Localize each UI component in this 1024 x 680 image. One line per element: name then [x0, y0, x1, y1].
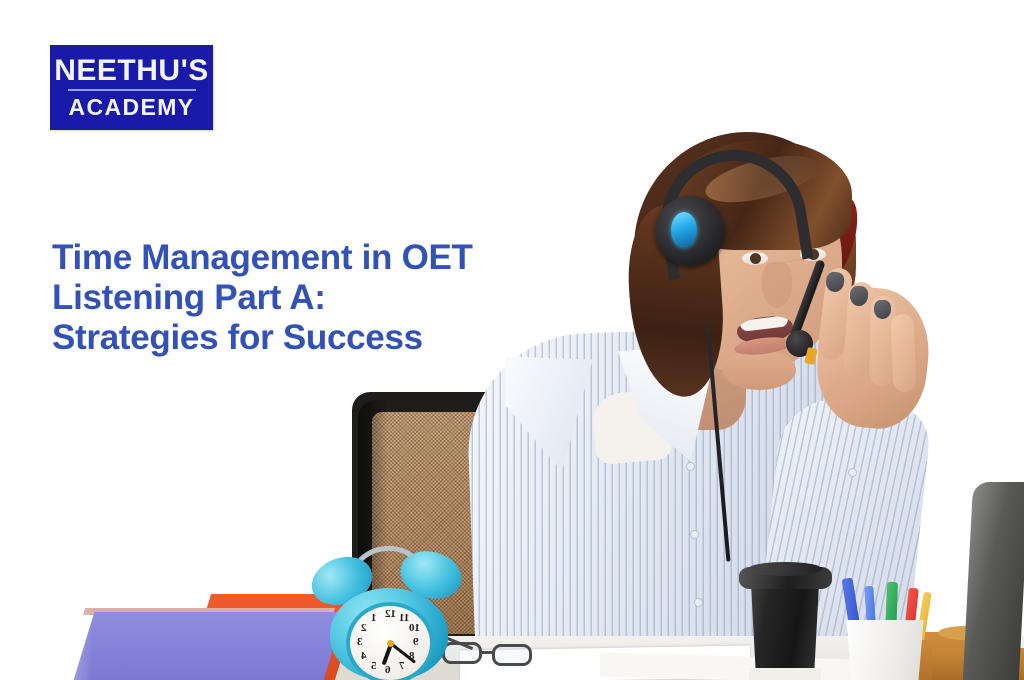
coffee-cup-lid — [739, 567, 832, 589]
shirt-collar-right — [618, 344, 722, 466]
desk-box — [916, 632, 982, 680]
fingernail — [825, 271, 846, 293]
desk-dish — [938, 626, 994, 640]
clock-numeral: 4 — [361, 650, 367, 662]
shirt-button — [690, 530, 699, 539]
shirt-button — [694, 598, 703, 607]
coffee-cup-lid-top — [748, 562, 822, 576]
folder-punch-hole — [272, 634, 281, 639]
paper-sheet — [460, 645, 751, 680]
alarm-clock-body — [330, 588, 448, 680]
eyeglasses-arm — [437, 633, 473, 650]
office-chair-frame — [352, 392, 524, 650]
person-hand — [811, 283, 935, 434]
laptop-base — [932, 648, 1024, 680]
clock-numeral: 6 — [385, 664, 391, 676]
person-torso — [464, 323, 895, 667]
eyeglasses-lens-right — [492, 644, 532, 666]
person-neck — [650, 320, 746, 430]
eye-left — [742, 252, 768, 265]
logo-divider — [68, 89, 196, 91]
orange-folder — [185, 594, 361, 680]
title-line-2: Listening Part A: — [52, 278, 592, 318]
shirt-collar-left — [500, 348, 604, 477]
person-head — [652, 150, 842, 372]
finger-index — [816, 267, 853, 361]
person-sleeve — [757, 393, 932, 657]
eyebrow-right — [798, 230, 832, 238]
headset-mic-clip — [804, 347, 818, 365]
clock-numeral: 11 — [399, 612, 409, 624]
alarm-clock-bell-left — [305, 549, 379, 613]
hair-highlight — [701, 147, 823, 212]
mouth — [736, 314, 795, 347]
clock-numeral: 5 — [371, 660, 377, 672]
finger-pinky — [891, 314, 917, 393]
coffee-cup-base — [749, 668, 821, 680]
yellow-pencil — [916, 592, 931, 641]
alarm-clock-handle — [345, 543, 430, 589]
clock-numeral: 9 — [413, 636, 419, 648]
alarm-clock-face: 121234567891011 — [350, 606, 430, 680]
clock-numeral: 3 — [357, 636, 363, 648]
teeth — [740, 315, 789, 332]
logo-line-1: NEETHU'S — [54, 55, 208, 86]
hair-fringe — [676, 140, 852, 250]
coffee-cup-body — [746, 578, 824, 680]
purple-folder-edge — [83, 608, 335, 615]
clock-numeral: 10 — [409, 622, 420, 634]
title-line-3: Strategies for Success — [52, 318, 592, 358]
clock-numeral: 7 — [399, 660, 405, 672]
clock-numeral: 1 — [371, 612, 377, 624]
clock-center-pin — [387, 640, 394, 647]
eyeglasses-bridge — [480, 651, 494, 654]
eyebrow-left — [742, 235, 776, 244]
pen-holder — [842, 620, 928, 680]
cuff-button — [848, 468, 857, 477]
office-chair-mesh — [372, 412, 506, 634]
purple-folder — [74, 612, 345, 680]
clock-numeral: 8 — [409, 650, 415, 662]
headset-mic-boom — [787, 259, 826, 345]
headset-microphone — [786, 330, 813, 357]
person-ear — [672, 238, 698, 276]
neethus-academy-logo[interactable]: NEETHU'S ACADEMY — [50, 45, 213, 130]
hair-red-highlight — [809, 193, 863, 287]
clock-hour-hand — [382, 643, 393, 665]
blue-marker — [864, 586, 877, 639]
red-pen — [903, 588, 919, 643]
shirt-button — [686, 462, 695, 471]
fingernail — [849, 285, 868, 306]
clock-numeral: 12 — [385, 608, 396, 620]
headset-wire — [706, 322, 731, 561]
nose — [762, 262, 792, 308]
clock-numeral: 2 — [361, 622, 367, 634]
desk-surface — [300, 636, 1024, 680]
page-title: Time Management in OET Listening Part A:… — [52, 238, 592, 358]
office-chair-shadow — [358, 400, 388, 644]
inner-tshirt — [591, 389, 673, 465]
blog-banner: 121234567891011 NEETHU'S ACADEMY Time Ma… — [0, 0, 1024, 680]
blue-pen — [842, 577, 862, 636]
hair-back — [634, 132, 856, 360]
orange-folder-edge — [197, 590, 349, 596]
paper-sheet — [600, 653, 861, 680]
alarm-clock-bell-right — [395, 544, 467, 605]
laptop-screen — [963, 482, 1024, 680]
hair-side — [623, 202, 728, 400]
clock-minute-hand — [391, 643, 416, 664]
desk-edge — [300, 662, 1024, 680]
headset-earcup-icon — [655, 196, 725, 266]
finger-ring — [869, 296, 896, 386]
fingernail — [874, 300, 891, 319]
chin — [722, 350, 796, 390]
title-line-1: Time Management in OET — [52, 238, 592, 278]
lower-lip — [733, 335, 793, 358]
eyeglasses-lens-left — [442, 642, 482, 664]
green-marker — [885, 582, 898, 640]
finger-middle — [843, 281, 875, 377]
logo-line-2: ACADEMY — [68, 95, 194, 119]
eye-right — [800, 248, 826, 261]
headset-headband — [651, 139, 814, 280]
folder-punch-hole — [284, 658, 293, 663]
